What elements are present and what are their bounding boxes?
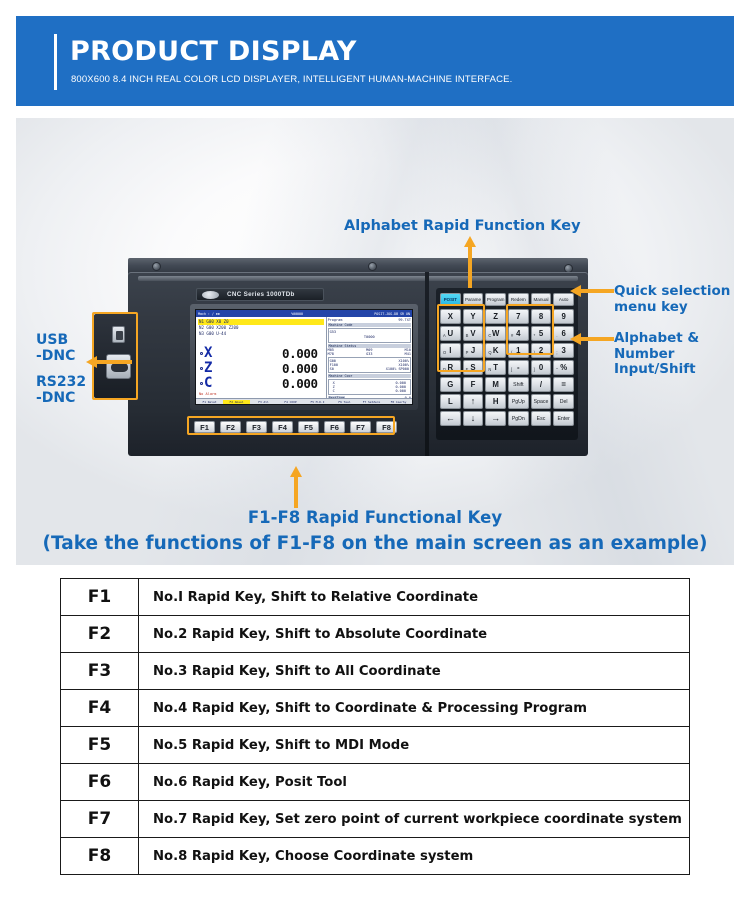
lcd-gcode-box: G53 T0000	[328, 328, 411, 343]
lcd-title-left: Mach : / mm	[198, 312, 220, 316]
table-cell-fkey: F1	[61, 579, 139, 616]
keypad-key-label: Space	[534, 399, 549, 405]
keypad-key-9[interactable]: 9	[553, 309, 574, 324]
banner-accent-rule	[54, 34, 57, 90]
brand-plate: CNC Series 1000TDb	[196, 288, 324, 301]
table-cell-description: No.6 Rapid Key, Posit Tool	[139, 764, 690, 801]
keypad-key-l[interactable]: L	[440, 394, 461, 409]
lcd-program-info: Program 99.TXT	[328, 318, 411, 322]
keypad-key-label: PgUp	[512, 399, 525, 405]
keypad-key-label: T	[493, 363, 498, 372]
lcd-program-name: 99.TXT	[398, 318, 411, 322]
lcd-feed-key: S0	[330, 367, 334, 371]
lcd-axis-row: Z 0.000	[200, 361, 318, 376]
screw-top-mid	[368, 262, 377, 271]
keypad-key-label: Enter	[557, 416, 569, 422]
keypad-key-label: Z	[493, 312, 498, 321]
page-header-banner: PRODUCT DISPLAY 800X600 8.4 INCH REAL CO…	[16, 16, 734, 106]
keypad-key-subscript: "	[556, 367, 557, 372]
keypad-key-[interactable]: →	[485, 411, 506, 426]
keypad-key-subscript: .	[556, 333, 557, 338]
page-subtitle: 800X600 8.4 INCH REAL COLOR LCD DISPLAYE…	[71, 74, 512, 85]
table-row: F1No.I Rapid Key, Shift to Relative Coor…	[61, 579, 690, 616]
lcd-alarm-text: No Alarm	[199, 392, 216, 396]
keypad-key-label: Shift	[513, 382, 523, 388]
caption-f1-f8-example-note: (Take the functions of F1-F8 on the main…	[0, 533, 750, 554]
table-row: F4No.4 Rapid Key, Shift to Coordinate & …	[61, 690, 690, 727]
table-row: F5No.5 Rapid Key, Shift to MDI Mode	[61, 727, 690, 764]
keypad-key-label: 9	[561, 312, 565, 321]
keypad-key-label: ↑	[471, 397, 476, 406]
keypad-key-t[interactable]: NT	[485, 360, 506, 375]
keypad-key-label: Esc	[537, 416, 546, 422]
keypad-key-label: G	[447, 380, 453, 389]
lcd-section-machine-coor: Machine Coor	[328, 374, 411, 378]
cnc-controller-device: CNC Series 1000TDb Mach : / mm %00000 PO…	[128, 258, 588, 470]
lcd-screen[interactable]: Mach : / mm %00000 POSIT-JOG-DB SR ON N1…	[195, 309, 413, 405]
keypad-key-shift[interactable]: Shift	[508, 377, 529, 392]
keypad-key-[interactable]: ←	[440, 411, 461, 426]
table-cell-description: No.4 Rapid Key, Shift to Coordinate & Pr…	[139, 690, 690, 727]
keypad-key-label: =	[561, 380, 566, 389]
keypad-key-label: L	[448, 397, 453, 406]
lcd-feed-row: S0 X100% SP000	[330, 367, 409, 371]
keypad-key-w[interactable]: CW	[485, 326, 506, 341]
lcd-feed-value: X100% SP000	[386, 367, 409, 371]
keypad-key-[interactable]: /	[531, 377, 552, 392]
keypad-key-subscript: C	[488, 333, 491, 338]
lcd-softkey[interactable]: F8 CoorSy	[385, 400, 412, 404]
annotation-rs232-dnc: RS232 -DNC	[36, 374, 86, 406]
lcd-softkey[interactable]: F5 M.D.I	[304, 400, 331, 404]
table-cell-description: No.I Rapid Key, Shift to Relative Coordi…	[139, 579, 690, 616]
table-cell-fkey: F8	[61, 838, 139, 875]
keypad-key-[interactable]: "%	[553, 360, 574, 375]
keypad-key-m[interactable]: M	[485, 377, 506, 392]
table-cell-description: No.3 Rapid Key, Shift to All Coordinate	[139, 653, 690, 690]
highlight-number-keys	[506, 304, 554, 355]
lcd-status-codes-row: M78 G33 M41	[328, 352, 411, 356]
arrow-quick-selection-left	[570, 285, 614, 297]
lcd-axis-row: X 0.000	[200, 346, 318, 361]
caption-f1-f8-rapid-functional-key: F1-F8 Rapid Functional Key	[0, 508, 750, 527]
table-row: F6No.6 Rapid Key, Posit Tool	[61, 764, 690, 801]
keypad-key-pgdn[interactable]: PgDn	[508, 411, 529, 426]
table-cell-description: No.2 Rapid Key, Shift to Absolute Coordi…	[139, 616, 690, 653]
keypad-key-f[interactable]: F	[463, 377, 484, 392]
lcd-softkey[interactable]: F1 Relat	[196, 400, 223, 404]
lcd-program-line: N3 G00 U-44	[198, 331, 324, 337]
keypad-key-h[interactable]: H	[485, 394, 506, 409]
lcd-coord-row: C 0.000	[330, 389, 409, 393]
table-row: F2No.2 Rapid Key, Shift to Absolute Coor…	[61, 616, 690, 653]
keypad-key-[interactable]: =	[553, 377, 574, 392]
arrow-fkeys-up	[290, 466, 302, 508]
keypad-key-label: Del	[560, 399, 568, 405]
lcd-softkey[interactable]: F7 SetZero	[358, 400, 385, 404]
keypad-key-[interactable]: ↓	[463, 411, 484, 426]
arrow-alphabet-rapid-down	[464, 236, 476, 288]
axis-indicator-dot	[200, 367, 203, 370]
axis-label: Z	[204, 361, 212, 375]
lcd-title-bar: Mach : / mm %00000 POSIT-JOG-DB SR ON	[196, 310, 412, 317]
keypad-key-label: F	[471, 380, 476, 389]
annotation-usb-dnc: USB -DNC	[36, 332, 75, 364]
brand-logo-icon	[202, 291, 219, 299]
table-cell-fkey: F6	[61, 764, 139, 801]
annotation-quick-selection-menu-key: Quick selection menu key	[614, 284, 730, 315]
lcd-screen-housing: Mach : / mm %00000 POSIT-JOG-DB SR ON N1…	[190, 304, 418, 410]
page-title: PRODUCT DISPLAY	[70, 36, 357, 67]
keypad-key-subscript: N	[488, 367, 491, 372]
axis-indicator-dot	[200, 382, 203, 385]
keypad-key-subscript: ]	[534, 367, 535, 372]
arrow-alphabet-number-left	[570, 333, 614, 345]
table-cell-fkey: F2	[61, 616, 139, 653]
table-row: F7No.7 Rapid Key, Set zero point of curr…	[61, 801, 690, 838]
keypad-key-subscript: [	[511, 367, 512, 372]
lcd-info-pane: Program 99.TXT Machine Code G53 T0000 Ma…	[326, 317, 412, 398]
keypad-key-label: W	[492, 329, 499, 338]
table-cell-description: No.8 Rapid Key, Choose Coordinate system	[139, 838, 690, 875]
lcd-coord-axis: C	[333, 389, 335, 393]
table-cell-fkey: F5	[61, 727, 139, 764]
keypad-key-label: ←	[446, 414, 455, 423]
lcd-axis-readout: X 0.000 Z 0.000	[198, 346, 324, 391]
screw-top-left	[152, 262, 161, 271]
arrow-connectors-left	[86, 356, 132, 368]
keypad-key-label: 0	[539, 363, 543, 372]
keypad-key-label: /	[540, 380, 542, 389]
lcd-softkey-status-bar: F1 Relat F2 Absol F3 All F4 COOP F5 M.D.…	[196, 398, 412, 404]
keypad-key-label: K	[493, 346, 499, 355]
highlight-alphabet-keys	[437, 304, 485, 372]
lcd-title-right: POSIT-JOG-DB SR ON	[374, 312, 410, 316]
brand-model-text: CNC Series 1000TDb	[227, 291, 295, 298]
axis-indicator-dot	[200, 352, 203, 355]
keypad-key-space[interactable]: Space	[531, 394, 552, 409]
table-row: F3No.3 Rapid Key, Shift to All Coordinat…	[61, 653, 690, 690]
keypad-key-subscript: Q	[488, 350, 491, 355]
lcd-softkey[interactable]: F3 All	[250, 400, 277, 404]
keypad-key-label: PgDn	[512, 416, 525, 422]
table-cell-fkey: F7	[61, 801, 139, 838]
lcd-section-machine-code: Machine Code	[328, 323, 411, 327]
lcd-softkey[interactable]: F6 Tool	[331, 400, 358, 404]
lcd-status-code: M41	[405, 352, 411, 356]
axis-value: 0.000	[282, 361, 318, 376]
lcd-spindle-value: T0000	[330, 335, 409, 340]
mode-key-program[interactable]: Program	[485, 293, 506, 306]
keypad-key-0[interactable]: ]0	[531, 360, 552, 375]
annotation-alphabet-rapid-function-key: Alphabet Rapid Function Key	[344, 218, 581, 235]
keypad-key-label: ↓	[471, 414, 476, 423]
keypad-key-label: %	[560, 363, 567, 372]
keypad-key-label: 6	[561, 329, 565, 338]
lcd-title-center: %00000	[291, 312, 303, 316]
keypad-key-label: →	[491, 414, 500, 423]
lcd-status-code: M78	[328, 352, 334, 356]
lcd-coord-box: X 0.000 Z 0.000 C 0.000	[328, 379, 411, 395]
keypad-key-pgup[interactable]: PgUp	[508, 394, 529, 409]
fkey-function-table: F1No.I Rapid Key, Shift to Relative Coor…	[60, 578, 690, 875]
keypad-key-z[interactable]: Z	[485, 309, 506, 324]
keypad-key-3[interactable]: ;3	[553, 343, 574, 358]
keypad-key-del[interactable]: Del	[553, 394, 574, 409]
keypad-key-label: H	[493, 397, 499, 406]
keypad-key-subscript: ;	[556, 350, 557, 355]
keypad-key-label: -	[517, 363, 520, 372]
annotation-alphabet-number-input-shift: Alphabet & Number Input/Shift	[614, 331, 699, 378]
keypad-key-[interactable]: [-	[508, 360, 529, 375]
device-panel-split	[425, 272, 429, 456]
keypad-key-esc[interactable]: Esc	[531, 411, 552, 426]
keypad-key-k[interactable]: QK	[485, 343, 506, 358]
lcd-coord-value: 0.000	[395, 389, 406, 393]
lcd-main-pane: N1 G00 X0 Z0 N2 G00 X200 Z200 N3 G00 U-4…	[196, 317, 326, 398]
table-row: F8No.8 Rapid Key, Choose Coordinate syst…	[61, 838, 690, 875]
table-cell-fkey: F3	[61, 653, 139, 690]
axis-label: C	[204, 376, 212, 390]
axis-label: X	[204, 346, 212, 360]
device-trim-bar	[138, 276, 578, 281]
axis-value: 0.000	[282, 346, 318, 361]
keypad-key-enter[interactable]: Enter	[553, 411, 574, 426]
lcd-softkey-active[interactable]: F2 Absol	[223, 400, 250, 404]
keypad-key-label: 3	[561, 346, 565, 355]
lcd-softkey[interactable]: F4 COOP	[277, 400, 304, 404]
lcd-status-code: G33	[366, 352, 372, 356]
lcd-program-label: Program	[328, 318, 343, 322]
keypad-key-g[interactable]: G	[440, 377, 461, 392]
axis-value: 0.000	[282, 376, 318, 391]
table-cell-fkey: F4	[61, 690, 139, 727]
keypad-key-label: M	[492, 380, 499, 389]
lcd-axis-row: C 0.000	[200, 376, 318, 391]
table-cell-description: No.7 Rapid Key, Set zero point of curren…	[139, 801, 690, 838]
table-cell-description: No.5 Rapid Key, Shift to MDI Mode	[139, 727, 690, 764]
highlight-fkey-strip	[187, 416, 395, 435]
keypad-key-[interactable]: ↑	[463, 394, 484, 409]
lcd-feed-box: G00 X100% F100 X100% S0 X100% SP000	[328, 357, 411, 373]
